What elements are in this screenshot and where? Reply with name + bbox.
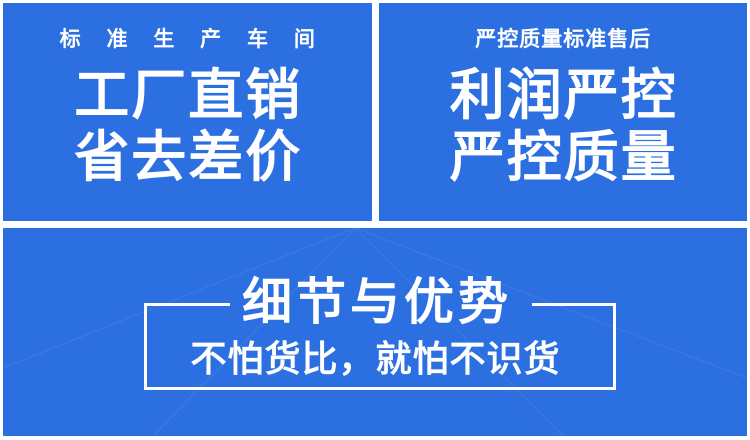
bottom-panel-title: 细节与优势 — [3, 274, 747, 330]
promo-banner: 标 准 生 产 车 间 工厂直销 省去差价 严控质量标准售后 利润严控 严控质量… — [0, 0, 750, 440]
top-panel-row: 标 准 生 产 车 间 工厂直销 省去差价 严控质量标准售后 利润严控 严控质量 — [0, 3, 750, 221]
right-panel-headline-line2: 严控质量 — [448, 126, 678, 188]
panel-details-advantages: 细节与优势 不怕货比，就怕不识货 — [3, 228, 747, 436]
left-panel-headline-line2: 省去差价 — [72, 126, 302, 188]
left-panel-eyebrow: 标 准 生 产 车 间 — [50, 29, 325, 50]
panel-factory-direct: 标 准 生 产 车 间 工厂直销 省去差价 — [3, 3, 372, 221]
right-panel-eyebrow: 严控质量标准售后 — [474, 29, 651, 50]
bottom-panel-subtitle: 不怕货比，就怕不识货 — [3, 338, 747, 380]
left-panel-headline-line1: 工厂直销 — [72, 64, 302, 126]
right-panel-headline-line1: 利润严控 — [448, 64, 678, 126]
panel-quality-control: 严控质量标准售后 利润严控 严控质量 — [379, 3, 748, 221]
